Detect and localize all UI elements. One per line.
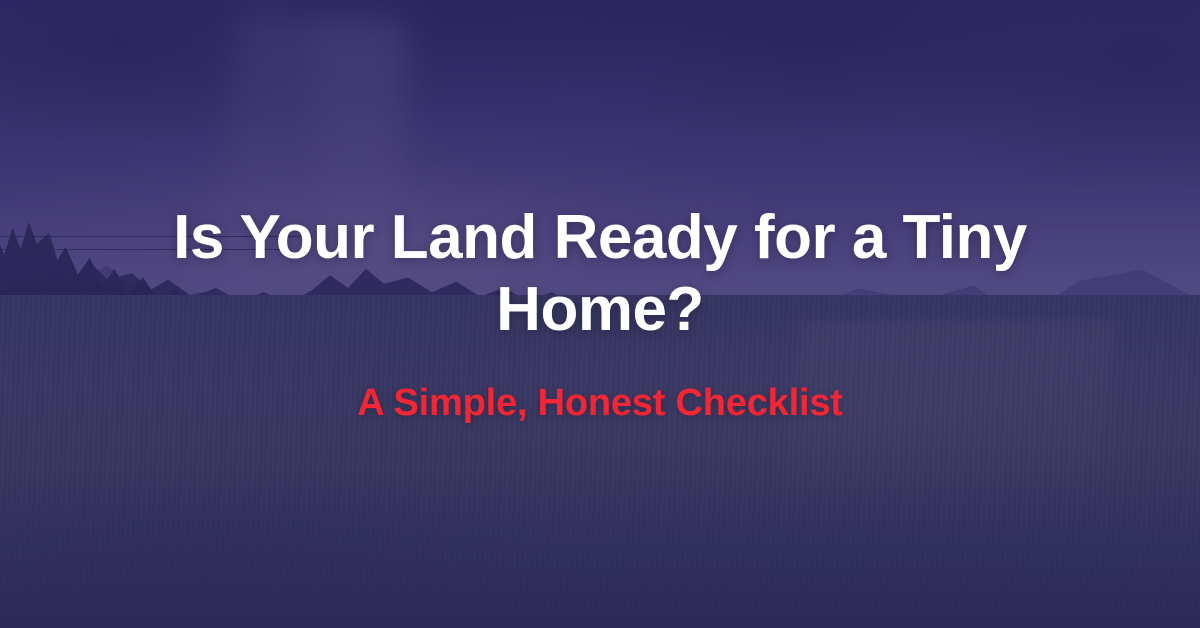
banner-headline: Is Your Land Ready for a Tiny Home?	[150, 202, 1050, 347]
banner-subheadline: A Simple, Honest Checklist	[357, 381, 842, 427]
hero-banner: Is Your Land Ready for a Tiny Home? A Si…	[0, 0, 1200, 628]
banner-content: Is Your Land Ready for a Tiny Home? A Si…	[0, 0, 1200, 628]
